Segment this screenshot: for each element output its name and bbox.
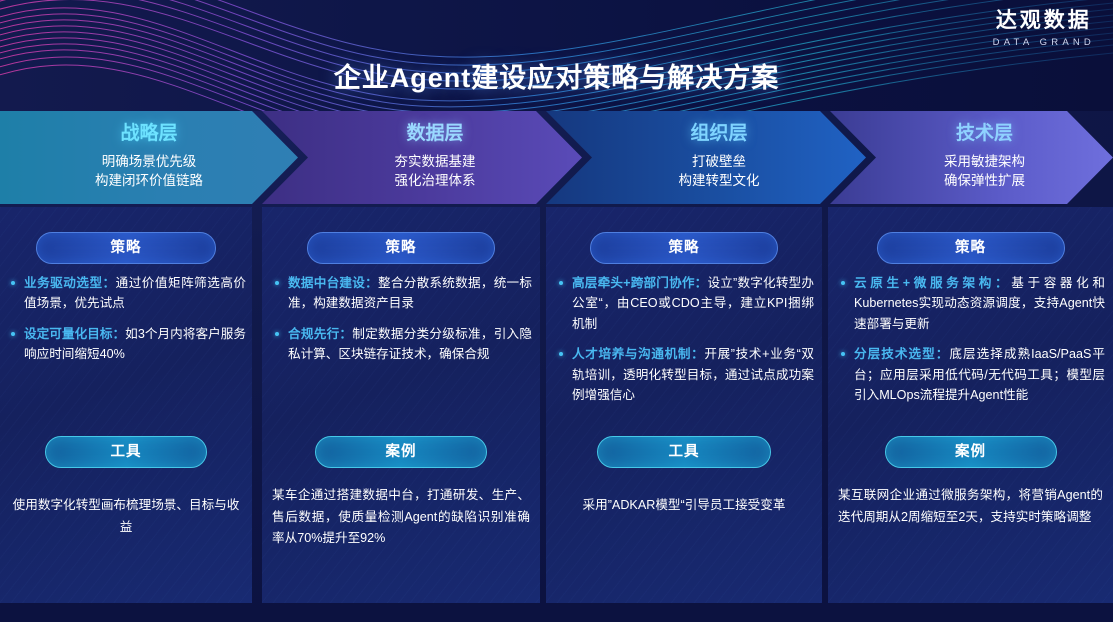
page-title: 企业Agent建设应对策略与解决方案 [0,56,1113,95]
chevron-subline-2: 确保弹性扩展 [944,171,1025,191]
chevron-organization-layer[interactable]: 组织层 打破壁垒 构建转型文化 [546,111,866,204]
list-item: 分层技术选型：底层选择成熟IaaS/PaaS平台；应用层采用低代码/无代码工具；… [838,344,1105,405]
case-pill[interactable]: 案例 [315,436,487,468]
chevron-subline-1: 采用敏捷架构 [944,152,1025,172]
tools-pill[interactable]: 工具 [45,436,207,468]
bottom-description: 某互联网企业通过微服务架构，将营销Agent的迭代周期从2周缩短至2天，支持实时… [838,485,1103,528]
bottom-description: 采用”ADKAR模型“引导员工接受变革 [556,495,812,517]
list-item: 合规先行：制定数据分类分级标准，引入隐私计算、区块链存证技术，确保合规 [272,324,532,365]
bullet-list: 云原生+微服务架构：基于容器化和Kubernetes实现动态资源调度，支持Age… [838,273,1105,415]
chevron-title: 数据层 [395,124,476,145]
bullet-lead: 业务驱动选型： [24,276,116,290]
bullet-lead: 高层牵头+跨部门协作： [572,276,707,290]
strategy-pill[interactable]: 策略 [590,232,778,264]
brand-logo-cn: 达观数据 [993,8,1095,34]
bullet-lead: 合规先行： [288,327,352,341]
brand-logo-en: DATA GRAND [993,37,1095,48]
strategy-pill[interactable]: 策略 [36,232,216,264]
case-pill[interactable]: 案例 [885,436,1057,468]
chevron-band: 战略层 明确场景优先级 构建闭环价值链路 数据层 夯实数据基建 强化治理体系 组… [0,111,1113,204]
brand-logo: 达观数据 DATA GRAND [993,8,1095,48]
bullet-list: 高层牵头+跨部门协作：设立”数字化转型办公室“，由CEO或CDO主导，建立KPI… [556,273,814,415]
panel-organization-layer: 策略 高层牵头+跨部门协作：设立”数字化转型办公室“，由CEO或CDO主导，建立… [546,207,822,603]
strategy-pill[interactable]: 策略 [307,232,495,264]
bottom-description: 某车企通过搭建数据中台，打通研发、生产、售后数据，使质量检测Agent的缺陷识别… [272,485,530,550]
panel-strategy-layer: 策略 业务驱动选型：通过价值矩阵筛选高价值场景，优先试点 设定可量化目标：如3个… [0,207,252,603]
list-item: 人才培养与沟通机制：开展”技术+业务“双轨培训，透明化转型目标，通过试点成功案例… [556,344,814,405]
panel-technology-layer: 策略 云原生+微服务架构：基于容器化和Kubernetes实现动态资源调度，支持… [828,207,1113,603]
bullet-list: 数据中台建设：整合分散系统数据，统一标准，构建数据资产目录 合规先行：制定数据分… [272,273,532,375]
panel-data-layer: 策略 数据中台建设：整合分散系统数据，统一标准，构建数据资产目录 合规先行：制定… [262,207,540,603]
list-item: 设定可量化目标：如3个月内将客户服务响应时间缩短40% [8,324,246,365]
chevron-subline-2: 强化治理体系 [395,171,476,191]
chevron-strategy-layer[interactable]: 战略层 明确场景优先级 构建闭环价值链路 [0,111,298,204]
bullet-list: 业务驱动选型：通过价值矩阵筛选高价值场景，优先试点 设定可量化目标：如3个月内将… [8,273,246,375]
bullet-lead: 分层技术选型： [854,347,949,361]
chevron-title: 技术层 [944,124,1025,145]
tools-pill[interactable]: 工具 [597,436,771,468]
chevron-technology-layer[interactable]: 技术层 采用敏捷架构 确保弹性扩展 [830,111,1113,204]
slide-root: 达观数据 DATA GRAND 企业Agent建设应对策略与解决方案 战略层 明… [0,0,1113,622]
chevron-subline-2: 构建转型文化 [679,171,760,191]
bullet-lead: 数据中台建设： [288,276,378,290]
chevron-subline-1: 打破壁垒 [679,152,760,172]
content-panels: 策略 业务驱动选型：通过价值矩阵筛选高价值场景，优先试点 设定可量化目标：如3个… [0,207,1113,603]
chevron-title: 战略层 [95,124,203,145]
list-item: 高层牵头+跨部门协作：设立”数字化转型办公室“，由CEO或CDO主导，建立KPI… [556,273,814,334]
chevron-subline-2: 构建闭环价值链路 [95,171,203,191]
list-item: 云原生+微服务架构：基于容器化和Kubernetes实现动态资源调度，支持Age… [838,273,1105,334]
chevron-data-layer[interactable]: 数据层 夯实数据基建 强化治理体系 [262,111,582,204]
chevron-title: 组织层 [679,124,760,145]
strategy-pill[interactable]: 策略 [877,232,1065,264]
bottom-description: 使用数字化转型画布梳理场景、目标与收益 [10,495,242,538]
chevron-subline-1: 夯实数据基建 [395,152,476,172]
bullet-lead: 云原生+微服务架构： [854,276,1011,290]
chevron-subline-1: 明确场景优先级 [95,152,203,172]
bullet-lead: 人才培养与沟通机制： [572,347,704,361]
list-item: 数据中台建设：整合分散系统数据，统一标准，构建数据资产目录 [272,273,532,314]
list-item: 业务驱动选型：通过价值矩阵筛选高价值场景，优先试点 [8,273,246,314]
bullet-lead: 设定可量化目标： [24,327,125,341]
